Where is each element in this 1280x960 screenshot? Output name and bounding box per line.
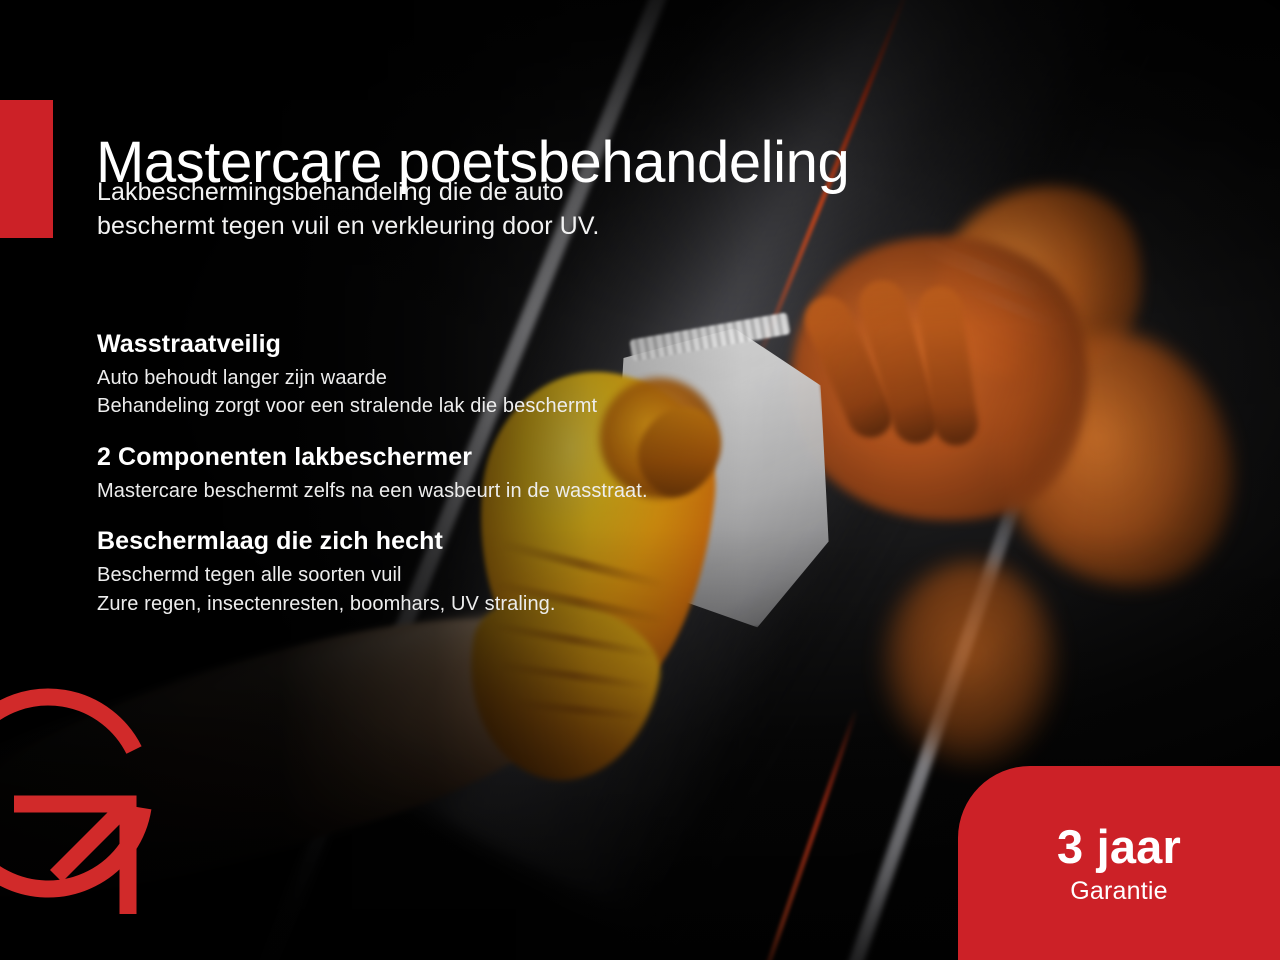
status-badge: 3 jaar Garantie bbox=[958, 766, 1280, 960]
feature-block: Wasstraatveilig Auto behoudt langer zijn… bbox=[97, 330, 877, 421]
feature-title: Beschermlaag die zich hecht bbox=[97, 527, 877, 556]
feature-line: Zure regen, insectenresten, boomhars, UV… bbox=[97, 590, 877, 618]
feature-title: 2 Componenten lakbeschermer bbox=[97, 443, 877, 472]
feature-title: Wasstraatveilig bbox=[97, 330, 877, 359]
badge-main-text: 3 jaar bbox=[1057, 823, 1181, 870]
feature-line: Mastercare beschermt zelfs na een wasbeu… bbox=[97, 477, 877, 505]
circular-arrow-logo bbox=[0, 676, 188, 926]
feature-list: Wasstraatveilig Auto behoudt langer zijn… bbox=[97, 330, 877, 640]
feature-line: Auto behoudt langer zijn waarde bbox=[97, 364, 877, 392]
promo-poster: Mastercare poetsbehandeling Lakbeschermi… bbox=[0, 0, 1280, 960]
feature-line: Beschermd tegen alle soorten vuil bbox=[97, 561, 877, 589]
feature-block: Beschermlaag die zich hecht Beschermd te… bbox=[97, 527, 877, 618]
accent-bar bbox=[0, 100, 53, 238]
feature-line: Behandeling zorgt voor een stralende lak… bbox=[97, 392, 877, 420]
feature-block: 2 Componenten lakbeschermer Mastercare b… bbox=[97, 443, 877, 505]
subtitle-line-1: Lakbeschermingsbehandeling die de auto bbox=[97, 175, 599, 209]
subtitle: Lakbeschermingsbehandeling die de auto b… bbox=[97, 175, 599, 243]
subtitle-line-2: beschermt tegen vuil en verkleuring door… bbox=[97, 209, 599, 243]
badge-sub-text: Garantie bbox=[1070, 879, 1168, 904]
